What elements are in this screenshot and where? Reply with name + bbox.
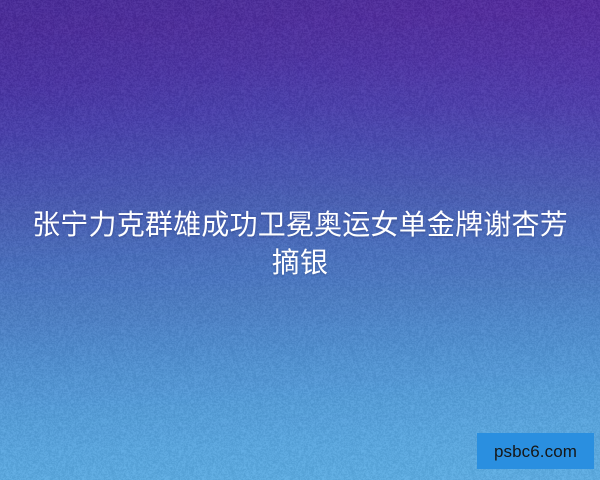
image-canvas: 张宁力克群雄成功卫冕奥运女单金牌谢杏芳摘银 psbc6.com <box>0 0 600 480</box>
watermark-badge: psbc6.com <box>477 433 594 469</box>
headline-title: 张宁力克群雄成功卫冕奥运女单金牌谢杏芳摘银 <box>0 206 600 282</box>
watermark-label: psbc6.com <box>494 443 577 460</box>
